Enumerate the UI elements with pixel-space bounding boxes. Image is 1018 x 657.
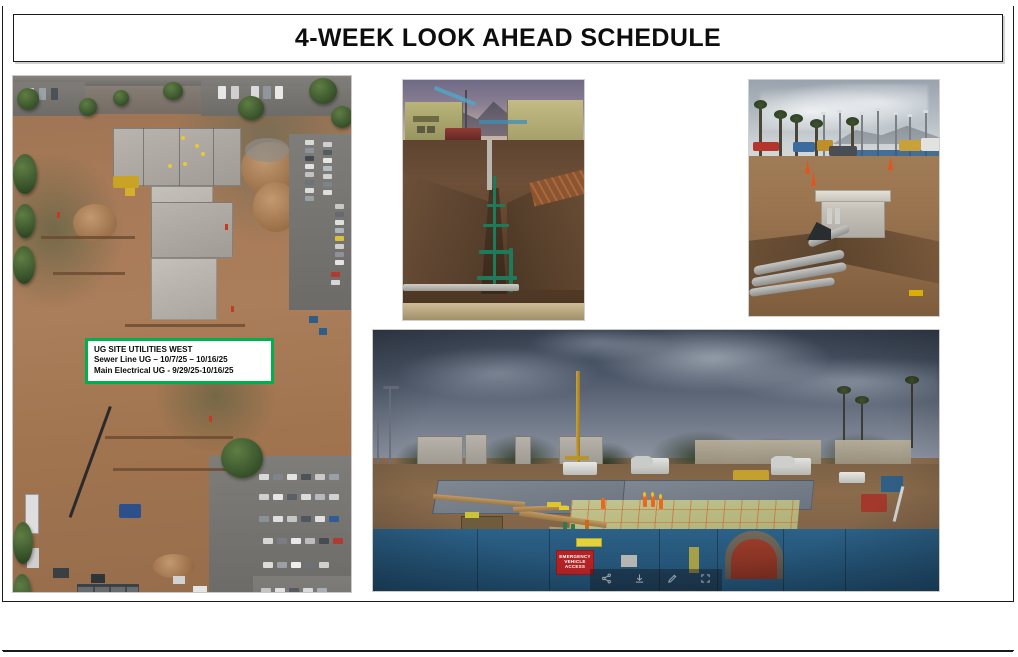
vault-clouds <box>760 84 927 130</box>
share-icon[interactable] <box>601 571 612 589</box>
slide-border-right <box>1013 6 1014 651</box>
panorama-vignette <box>373 330 939 591</box>
trench-foreground-board <box>403 303 584 320</box>
edit-icon[interactable] <box>667 571 678 589</box>
electrical-vault-photo[interactable] <box>748 79 940 317</box>
aerial-site-photo[interactable]: UG SITE UTILITIES WEST Sewer Line UG – 1… <box>12 75 352 593</box>
slide-footer: HENSEL PHELPS Plan. Build. Manage. SoCal… <box>0 602 1018 650</box>
page-title: 4-WEEK LOOK AHEAD SCHEDULE <box>295 24 721 53</box>
slide-border-left <box>2 6 3 651</box>
footer-divider-bottom <box>3 650 1013 652</box>
slide-canvas: 4-WEEK LOOK AHEAD SCHEDULE <box>0 0 1018 657</box>
vault-lid <box>815 190 891 202</box>
panorama-overlay-toolbar[interactable] <box>590 569 722 591</box>
site-panorama-photo[interactable]: EMERGENCY VEHICLE ACCESS <box>372 329 940 592</box>
annotation-line-1: UG SITE UTILITIES WEST <box>94 345 266 355</box>
title-box: 4-WEEK LOOK AHEAD SCHEDULE <box>13 14 1003 62</box>
expand-icon[interactable] <box>700 571 711 589</box>
annotation-line-3: Main Electrical UG - 9/29/25-10/16/25 <box>94 366 266 376</box>
annotation-callout-ug-site-utilities-west: UG SITE UTILITIES WEST Sewer Line UG – 1… <box>85 338 274 384</box>
trench-excavation-photo[interactable] <box>402 79 585 321</box>
annotation-line-2: Sewer Line UG – 10/7/25 – 10/16/25 <box>94 355 266 365</box>
download-icon[interactable] <box>634 571 645 589</box>
